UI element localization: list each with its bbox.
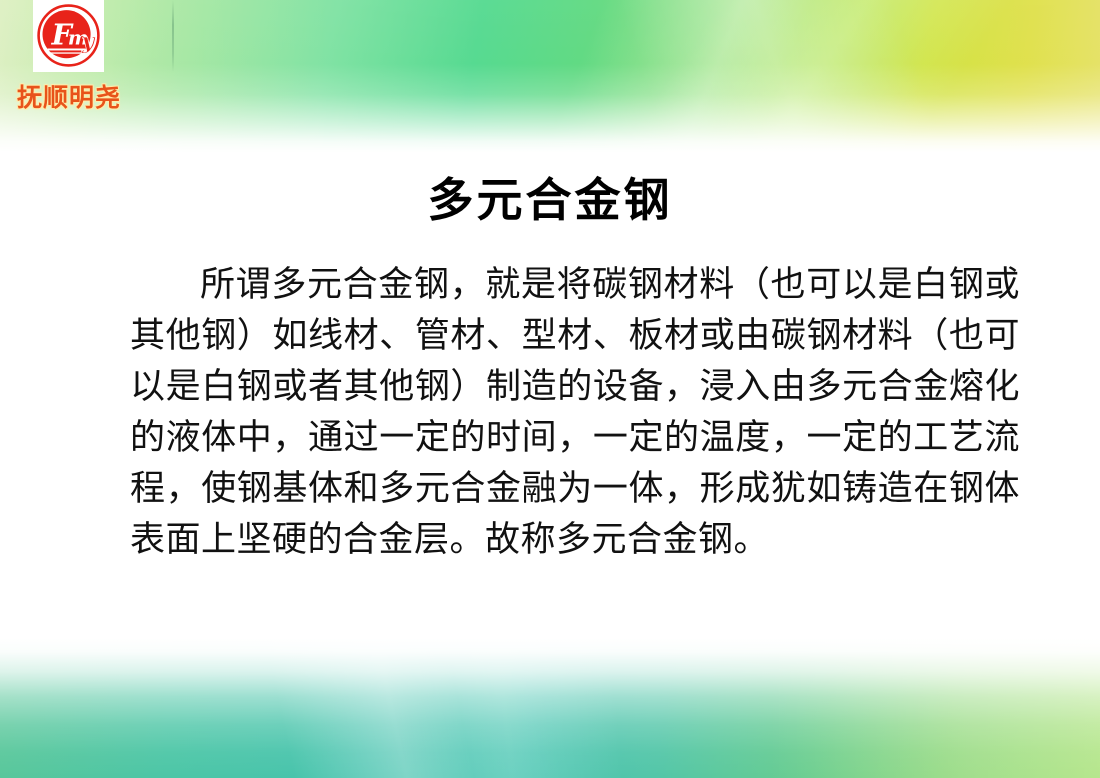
top-banner-white-fade [0, 0, 1100, 152]
bottom-gradient-banner [0, 638, 1100, 778]
page-title: 多元合金钢 [0, 164, 1100, 230]
logo-plate: F m y [33, 0, 104, 72]
top-banner-seam-artifact [172, 0, 174, 72]
top-gradient-banner [0, 0, 1100, 152]
svg-text:y: y [81, 29, 97, 55]
body-paragraph: 所谓多元合金钢，就是将碳钢材料（也可以是白钢或其他钢）如线材、管材、型材、板材或… [130, 260, 1020, 566]
slide-content: 多元合金钢 所谓多元合金钢，就是将碳钢材料（也可以是白钢或其他钢）如线材、管材、… [0, 152, 1100, 648]
fmy-circle-logo-icon: F m y [36, 3, 101, 68]
bottom-banner-white-fade [0, 638, 1100, 778]
presentation-slide: F m y 抚顺明尧 多元合金钢 所谓多元合金钢，就是将碳钢材料（也可以是白钢或… [0, 0, 1100, 778]
company-name: 抚顺明尧 [8, 78, 130, 114]
